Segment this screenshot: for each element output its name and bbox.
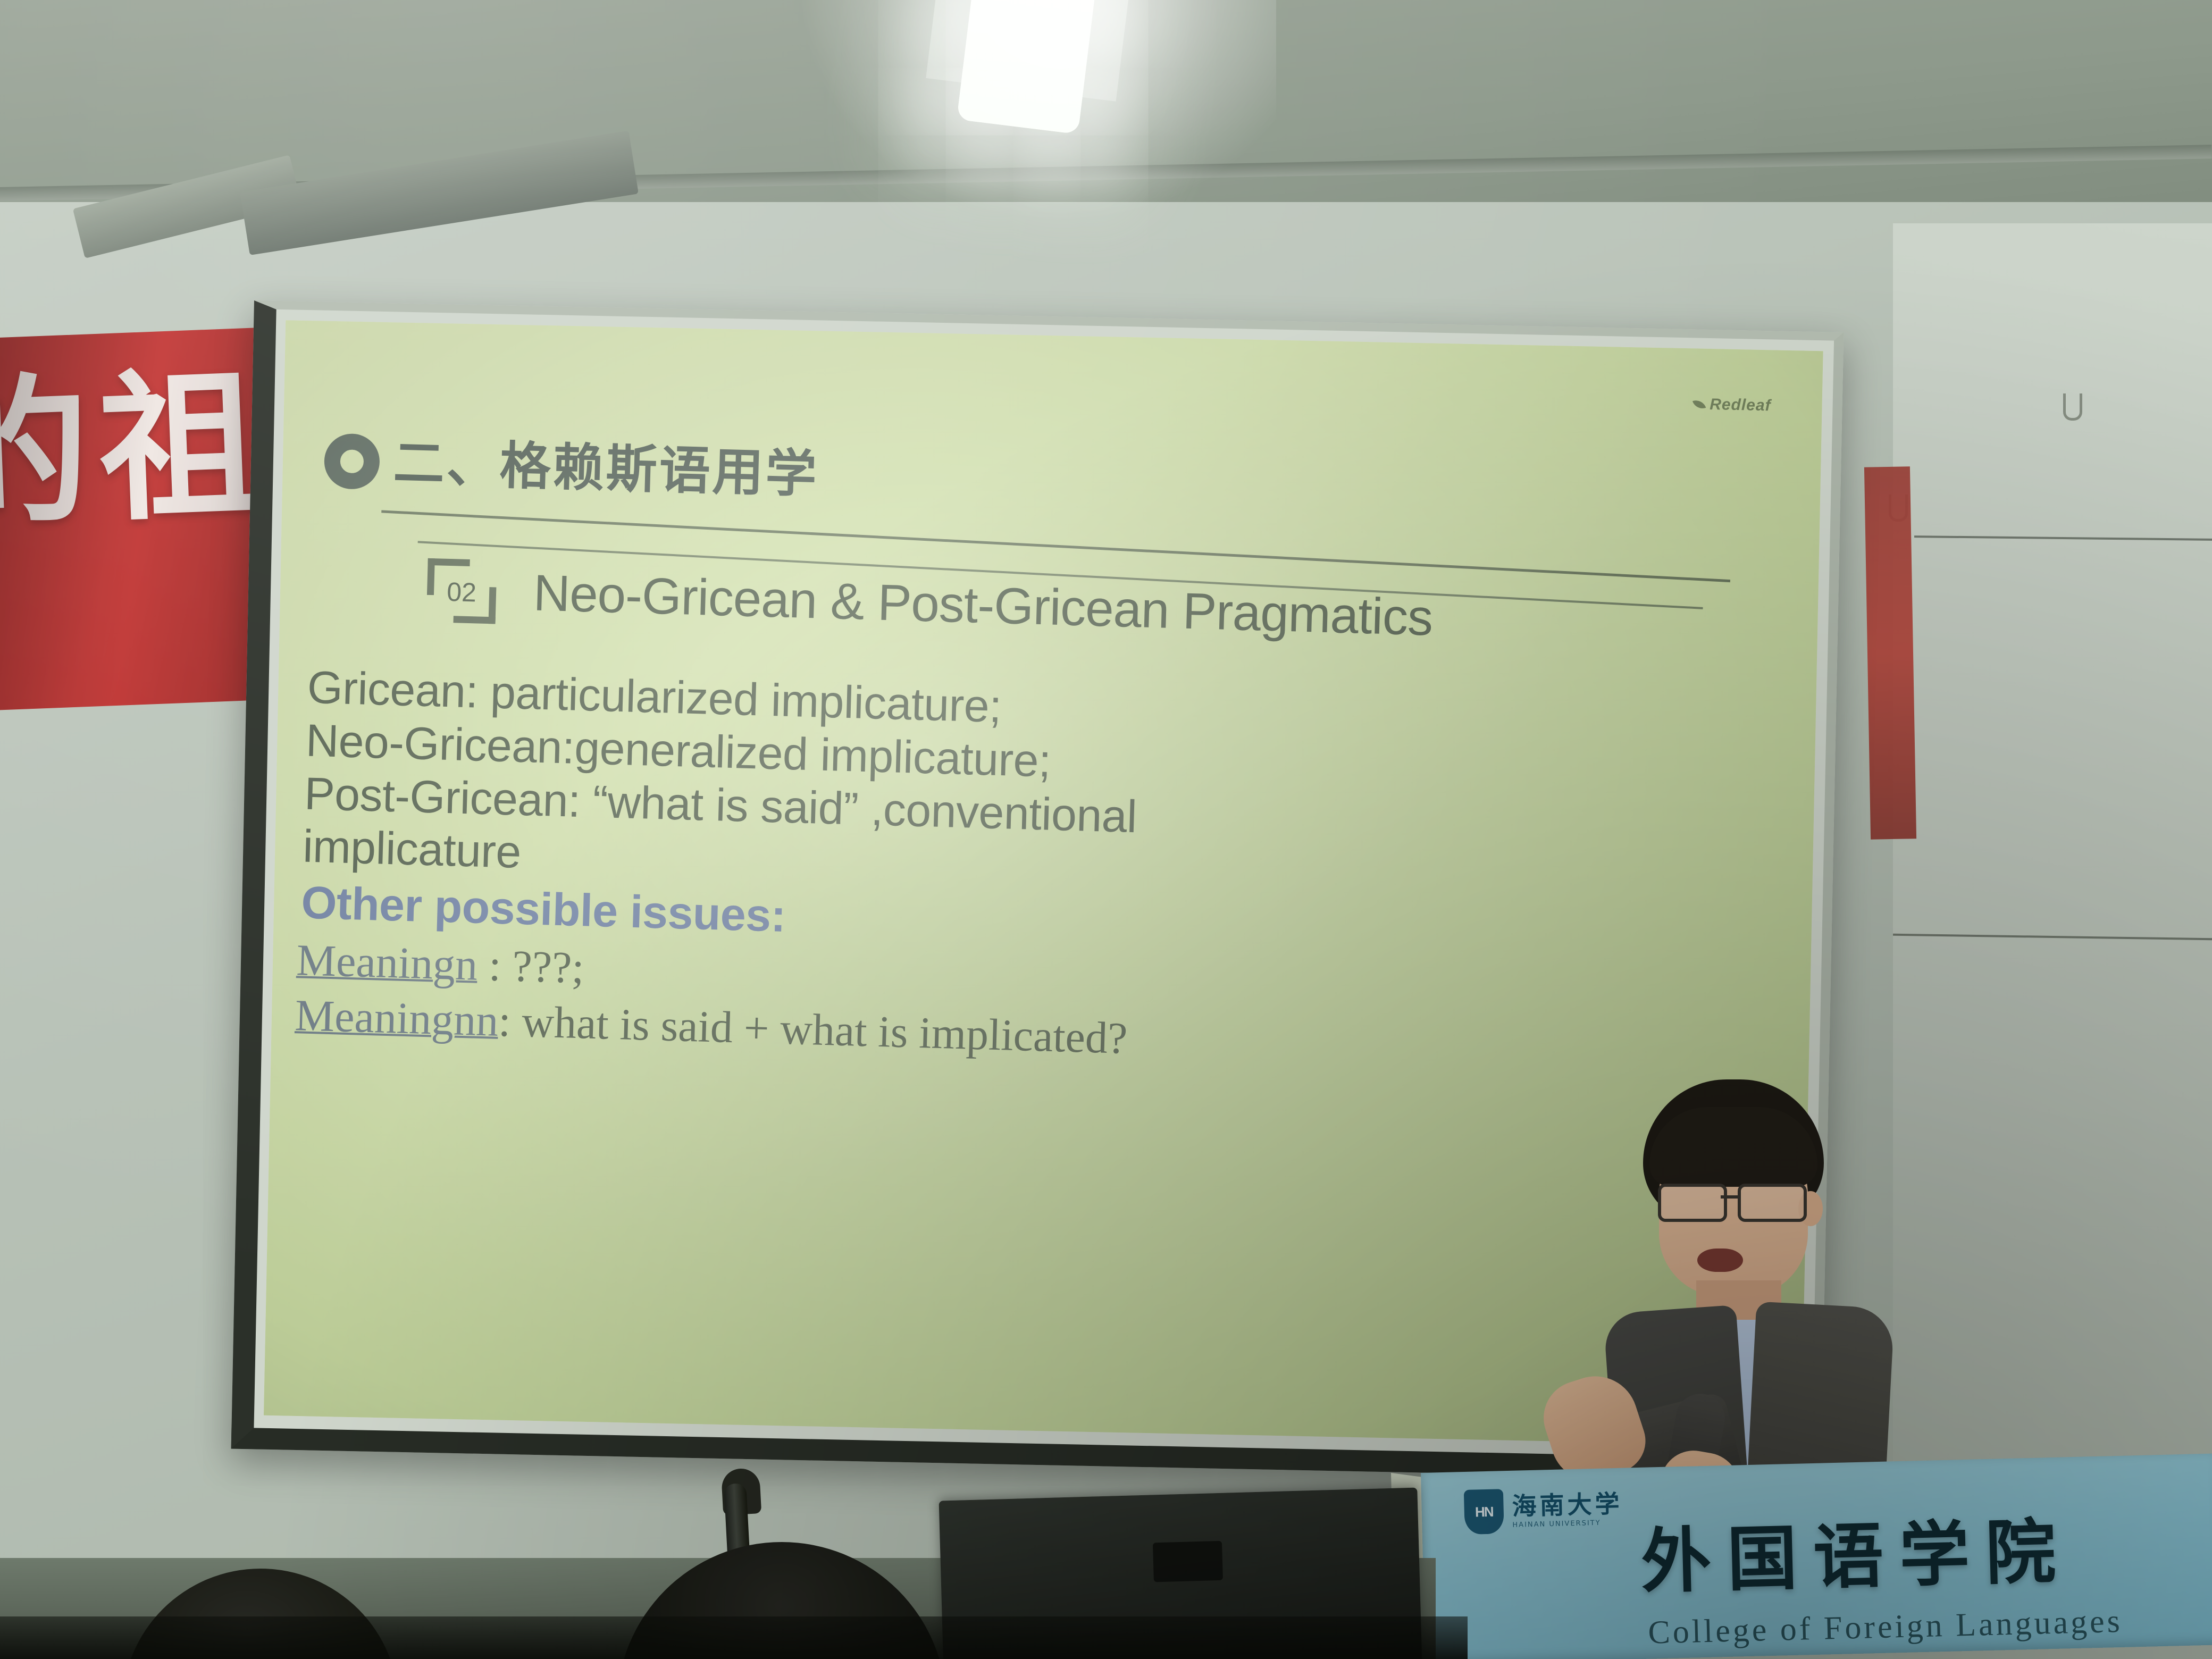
glasses-lens-left xyxy=(1658,1184,1727,1222)
fluorescent-tube-light xyxy=(957,0,1101,135)
university-name-cn: 海南大学 xyxy=(1512,1489,1623,1520)
slide-subtitle: Neo-Gricean & Post-Gricean Pragmatics xyxy=(533,564,1434,647)
red-wall-strip xyxy=(1864,466,1916,839)
slide-subtitle-row: 02 Neo-Gricean & Post-Gricean Pragmatics xyxy=(426,558,1434,650)
speaker-mouth xyxy=(1697,1249,1743,1272)
speaker-fringe xyxy=(1649,1107,1817,1187)
university-logo: HN 海南大学 HAINAN UNIVERSITY xyxy=(1464,1486,1623,1535)
meaning-n-value: : ???; xyxy=(477,941,585,993)
ring-bullet-icon xyxy=(323,433,380,490)
glasses-lens-right xyxy=(1738,1184,1807,1222)
wall-hook-right xyxy=(2063,393,2082,421)
college-name-cn: 外国语学院 xyxy=(1640,1516,2073,1597)
lecture-photo-scene: 的祖 Redleaf 二、格赖斯语用学 xyxy=(0,0,2212,1659)
glasses-bridge xyxy=(1721,1195,1739,1199)
foreground-shadow xyxy=(0,1616,1468,1659)
meaning-n-label: Meaningn xyxy=(296,935,478,990)
redleaf-watermark: Redleaf xyxy=(1694,395,1771,415)
watermark-label: Redleaf xyxy=(1710,396,1771,415)
shield-icon: HN xyxy=(1464,1489,1504,1535)
college-name-en: College of Foreign Languages xyxy=(1648,1603,2123,1652)
right-wall xyxy=(1893,223,2212,1659)
leaf-icon xyxy=(1692,398,1706,411)
slide-title-row: 二、格赖斯语用学 xyxy=(323,433,819,502)
university-name-en: HAINAN UNIVERSITY xyxy=(1512,1519,1623,1528)
glasses-icon xyxy=(1658,1184,1817,1219)
university-name: 海南大学 HAINAN UNIVERSITY xyxy=(1512,1491,1623,1528)
meaning-nn-label: Meaningnn xyxy=(294,991,499,1046)
laptop-lid-logo xyxy=(1153,1541,1223,1582)
podium-front-panel: HN 海南大学 HAINAN UNIVERSITY 外国语学院 College … xyxy=(1421,1453,2212,1659)
slide-title: 二、格赖斯语用学 xyxy=(393,437,819,500)
section-number: 02 xyxy=(446,576,476,608)
slide-body: Gricean: particularized implicature; Neo… xyxy=(287,661,1764,1084)
section-number-badge: 02 xyxy=(426,558,497,624)
